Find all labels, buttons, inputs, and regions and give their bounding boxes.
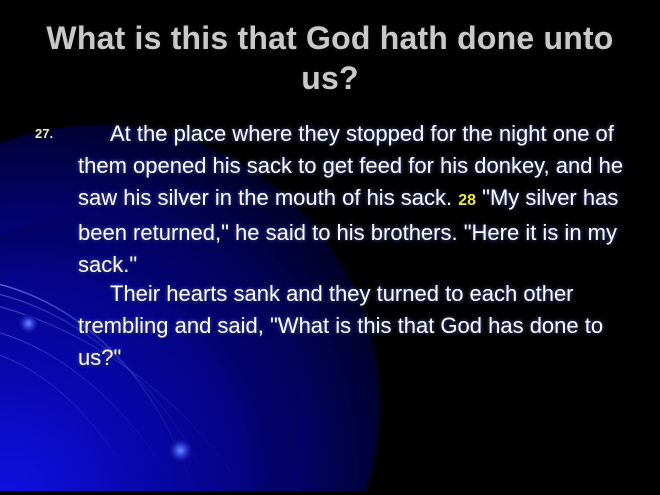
verse-marker-27: 27. <box>35 118 78 150</box>
slide-title: What is this that God hath done unto us? <box>30 18 630 98</box>
paragraph-one: At the place where they stopped for the … <box>78 118 627 281</box>
presentation-slide: What is this that God hath done unto us?… <box>0 0 660 495</box>
paragraph-two-text: Their hearts sank and they turned to eac… <box>78 281 603 370</box>
verse-row: 27. At the place where they stopped for … <box>35 118 627 281</box>
glow-dot-icon-upper <box>19 314 38 333</box>
slide-bottom-edge <box>0 491 660 495</box>
paragraph-two: Their hearts sank and they turned to eac… <box>78 278 627 374</box>
slide-body: 27. At the place where they stopped for … <box>35 118 627 281</box>
glow-dot-icon-lower <box>169 439 192 462</box>
inline-verse-number-28: 28 <box>458 192 476 209</box>
